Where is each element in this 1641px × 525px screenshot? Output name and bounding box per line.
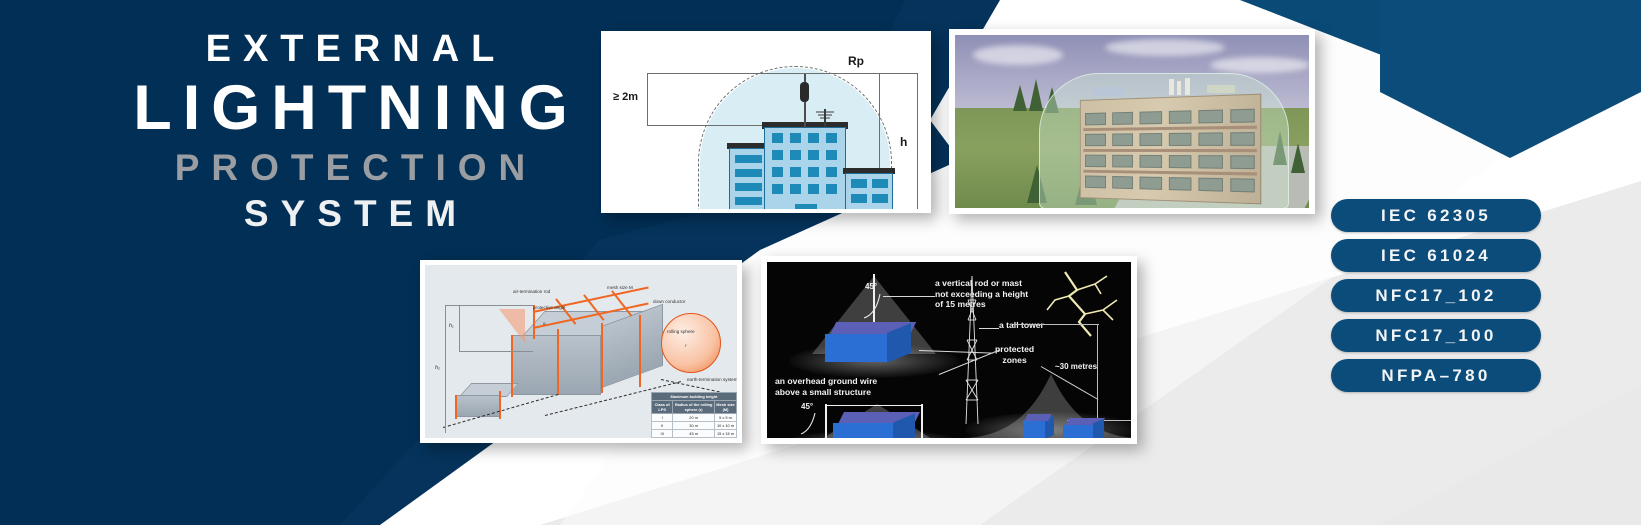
cloud: [973, 45, 1063, 65]
standard-badge[interactable]: NFC17_100: [1331, 319, 1541, 352]
table-cell: I: [652, 414, 673, 422]
house-model: [825, 322, 921, 362]
air-terminal-rod-icon: [800, 82, 809, 102]
title-line-external: EXTERNAL: [96, 28, 616, 72]
tower-lattice: [963, 276, 981, 424]
small-structure: [1063, 418, 1107, 438]
dim-h-vertical: [917, 73, 918, 209]
table-cell: II: [652, 422, 673, 430]
building-right: [845, 173, 893, 209]
angle-arc-top: [860, 288, 890, 322]
wire-pole: [825, 404, 827, 438]
tree: [1013, 85, 1027, 111]
label-protective-angle: protective angle: [533, 305, 565, 310]
standard-badge[interactable]: IEC 62305: [1331, 199, 1541, 232]
protective-angle-cone: [499, 309, 525, 343]
table-col-header: Radius of the rolling sphere (r): [673, 401, 715, 414]
label-overhead-wire: an overhead ground wire above a small st…: [775, 376, 877, 397]
table-cell: 10 x 10 m: [714, 422, 736, 430]
building-main: [764, 127, 846, 209]
tree: [1291, 143, 1305, 173]
dim-top-horizontal: [647, 73, 807, 74]
table-header-row: Class of LPSRadius of the rolling sphere…: [652, 401, 737, 414]
standard-badge[interactable]: NFPA–780: [1331, 359, 1541, 392]
table-row: I20 m5 x 5 m: [652, 414, 737, 422]
down-conductor: [557, 329, 559, 395]
dim-h1-vertical: [459, 305, 460, 351]
roof-mast: [1177, 81, 1181, 95]
label-h1: h₁: [449, 323, 454, 329]
lightning-bolt-icon: [1043, 270, 1127, 336]
lps-class-table: Maximum building height Class of LPSRadi…: [651, 392, 737, 438]
dim-top: [445, 305, 533, 306]
annex-front-face: [455, 395, 501, 417]
building-model: [1080, 94, 1261, 205]
card-mesh-rolling-sphere-diagram[interactable]: h₁ h₂ air-termination rod protective ang…: [420, 260, 742, 443]
label-h: h: [900, 135, 907, 149]
title-line-lightning: LIGHTNING: [96, 74, 616, 142]
title-line-protection: PROTECTION: [96, 146, 616, 190]
building-left: [729, 148, 767, 209]
label-rp: Rp: [848, 54, 864, 68]
render-canvas: [955, 35, 1309, 208]
label-mesh-size: mesh size M: [607, 285, 633, 290]
card-building-protection-render[interactable]: [949, 29, 1315, 214]
table-row: II30 m10 x 10 m: [652, 422, 737, 430]
label-air-termination-rod: air-termination rod: [513, 289, 550, 294]
down-conductor: [455, 395, 457, 419]
banner-title: EXTERNAL LIGHTNING PROTECTION SYSTEM: [96, 28, 616, 237]
down-conductor: [499, 391, 501, 419]
cloud: [1105, 39, 1225, 56]
down-conductor: [511, 335, 513, 397]
standard-badge[interactable]: IEC 61024: [1331, 239, 1541, 272]
label-down-conductor: down conductor: [653, 299, 685, 304]
label-earth-termination: earth-termination system: [687, 377, 737, 383]
dim-rp-horizontal: [807, 73, 917, 74]
dark-diagram-canvas: 45° a vertical rod or mast not exceeding…: [767, 262, 1131, 438]
standards-badge-list: IEC 62305IEC 61024NFC17_102NFC17_100NFPA…: [1331, 199, 1541, 399]
leader-line: [979, 328, 999, 329]
leader-line: [883, 296, 935, 297]
lightning-protection-banner: EXTERNAL LIGHTNING PROTECTION SYSTEM ≥ 2…: [0, 0, 1641, 525]
antenna-icon: [814, 109, 836, 119]
table-title: Maximum building height: [652, 393, 737, 401]
label-min-clearance: ≥ 2m: [613, 91, 638, 103]
overhead-ground-wire: [825, 405, 922, 406]
roof-mast: [1185, 78, 1190, 95]
card-protection-radius-diagram[interactable]: ≥ 2m Rp h: [601, 31, 931, 213]
antenna-glyph: [814, 110, 838, 122]
lightning-glyph: [1043, 270, 1129, 338]
cloud: [1210, 57, 1309, 73]
table-cell: III: [652, 430, 673, 438]
down-conductor: [601, 323, 603, 393]
label-rolling-sphere: rolling sphere: [667, 329, 695, 334]
house-model: [833, 412, 929, 438]
table-cell: 15 x 15 m: [714, 430, 736, 438]
roof-equipment: [1207, 85, 1235, 93]
tree: [1029, 79, 1043, 111]
table-body: I20 m5 x 5 mII30 m10 x 10 mIII45 m15 x 1…: [652, 414, 737, 438]
label-radius-symbol: r: [685, 343, 686, 348]
dim-mid: [459, 351, 533, 352]
label-vertical-rod: a vertical rod or mast not exceeding a h…: [935, 278, 1028, 310]
table-cell: 20 m: [673, 414, 715, 422]
roof-equipment: [1093, 87, 1123, 96]
mesh-diagram-canvas: h₁ h₂ air-termination rod protective ang…: [425, 265, 737, 438]
label-tower-height: ~30 metres: [1055, 362, 1097, 372]
table-col-header: Mesh size (M): [714, 401, 736, 414]
dim-h2-vertical: [445, 305, 446, 433]
tall-tower: [963, 276, 979, 422]
building-front-face: [511, 335, 601, 395]
label-tall-tower: a tall tower: [999, 320, 1044, 331]
down-conductor: [639, 315, 641, 387]
table-cell: 45 m: [673, 430, 715, 438]
label-angle-symbol: α: [543, 321, 546, 326]
standard-badge[interactable]: NFC17_102: [1331, 279, 1541, 312]
dim-tower-top: [1013, 324, 1099, 325]
rp-diagram-canvas: ≥ 2m Rp h: [605, 35, 927, 209]
card-protected-zones-diagram[interactable]: 45° a vertical rod or mast not exceeding…: [761, 256, 1137, 444]
table-col-header: Class of LPS: [652, 401, 673, 414]
table-cell: 5 x 5 m: [714, 414, 736, 422]
dim-tower-vertical: [1097, 324, 1098, 420]
label-protected-zones: protected zones: [995, 344, 1034, 365]
title-line-system: SYSTEM: [96, 192, 616, 236]
rolling-sphere: [661, 313, 721, 373]
roof-mast: [1169, 79, 1174, 95]
angle-arc-bottom: [797, 408, 825, 438]
small-structure: [1023, 414, 1053, 438]
table-row: III45 m15 x 15 m: [652, 430, 737, 438]
dim-left-vertical: [647, 73, 648, 126]
table-cell: 30 m: [673, 422, 715, 430]
label-h2: h₂: [435, 365, 440, 371]
